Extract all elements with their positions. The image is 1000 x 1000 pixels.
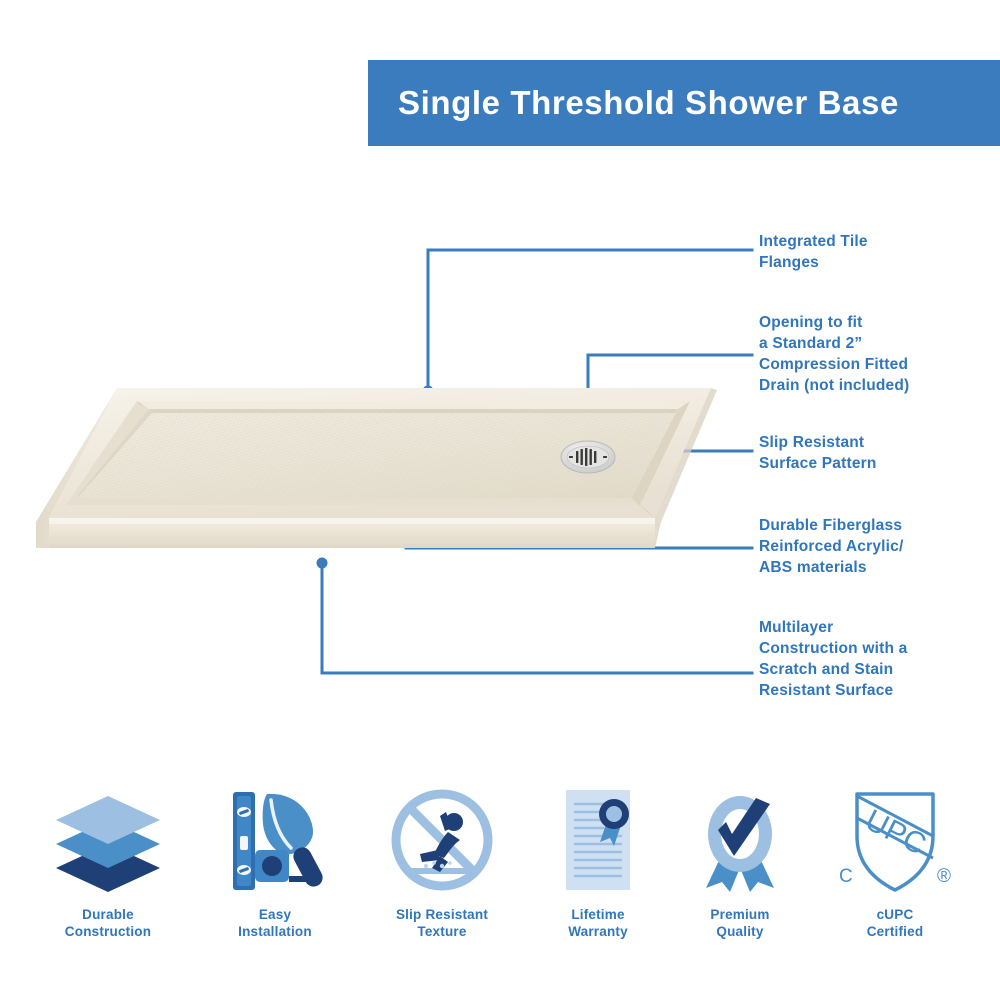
callout-fiberglass-materials: Durable Fiberglass Reinforced Acrylic/ A… [759, 515, 904, 578]
feature-slip-resistant-texture: Slip Resistant Texture [359, 780, 525, 940]
feature-label: Premium Quality [657, 906, 823, 940]
feature-durable-construction: Durable Construction [25, 780, 191, 940]
drain-grate [561, 441, 615, 473]
layers-icon [25, 780, 191, 900]
feature-label: cUPC Certified [812, 906, 978, 940]
level-trowel-icon [192, 780, 358, 900]
feature-label: Easy Installation [192, 906, 358, 940]
feature-label: Durable Construction [25, 906, 191, 940]
upc-band-text: UPC [860, 804, 931, 862]
infographic-page: Single Threshold Shower Base Integrated … [0, 0, 1000, 1000]
no-slip-icon [359, 780, 525, 900]
feature-label: Slip Resistant Texture [359, 906, 525, 940]
callout-multilayer-construction: Multilayer Construction with a Scratch a… [759, 617, 907, 701]
callout-slip-resistant-surface: Slip Resistant Surface Pattern [759, 432, 877, 474]
feature-premium-quality: Premium Quality [657, 780, 823, 940]
check-rosette-icon [657, 780, 823, 900]
feature-easy-installation: Easy Installation [192, 780, 358, 940]
upc-shield-icon: UPC C ® [812, 780, 978, 900]
feature-cupc-certified: UPC C ® cUPC Certified [812, 780, 978, 940]
callout-integrated-tile-flanges: Integrated Tile Flanges [759, 231, 868, 273]
product-illustration-shower-base [18, 372, 746, 584]
callout-drain-opening: Opening to fit a Standard 2” Compression… [759, 312, 909, 396]
upc-right-mark: ® [937, 866, 951, 887]
feature-strip: Durable Construction [0, 780, 1000, 970]
upc-left-mark: C [839, 866, 853, 887]
